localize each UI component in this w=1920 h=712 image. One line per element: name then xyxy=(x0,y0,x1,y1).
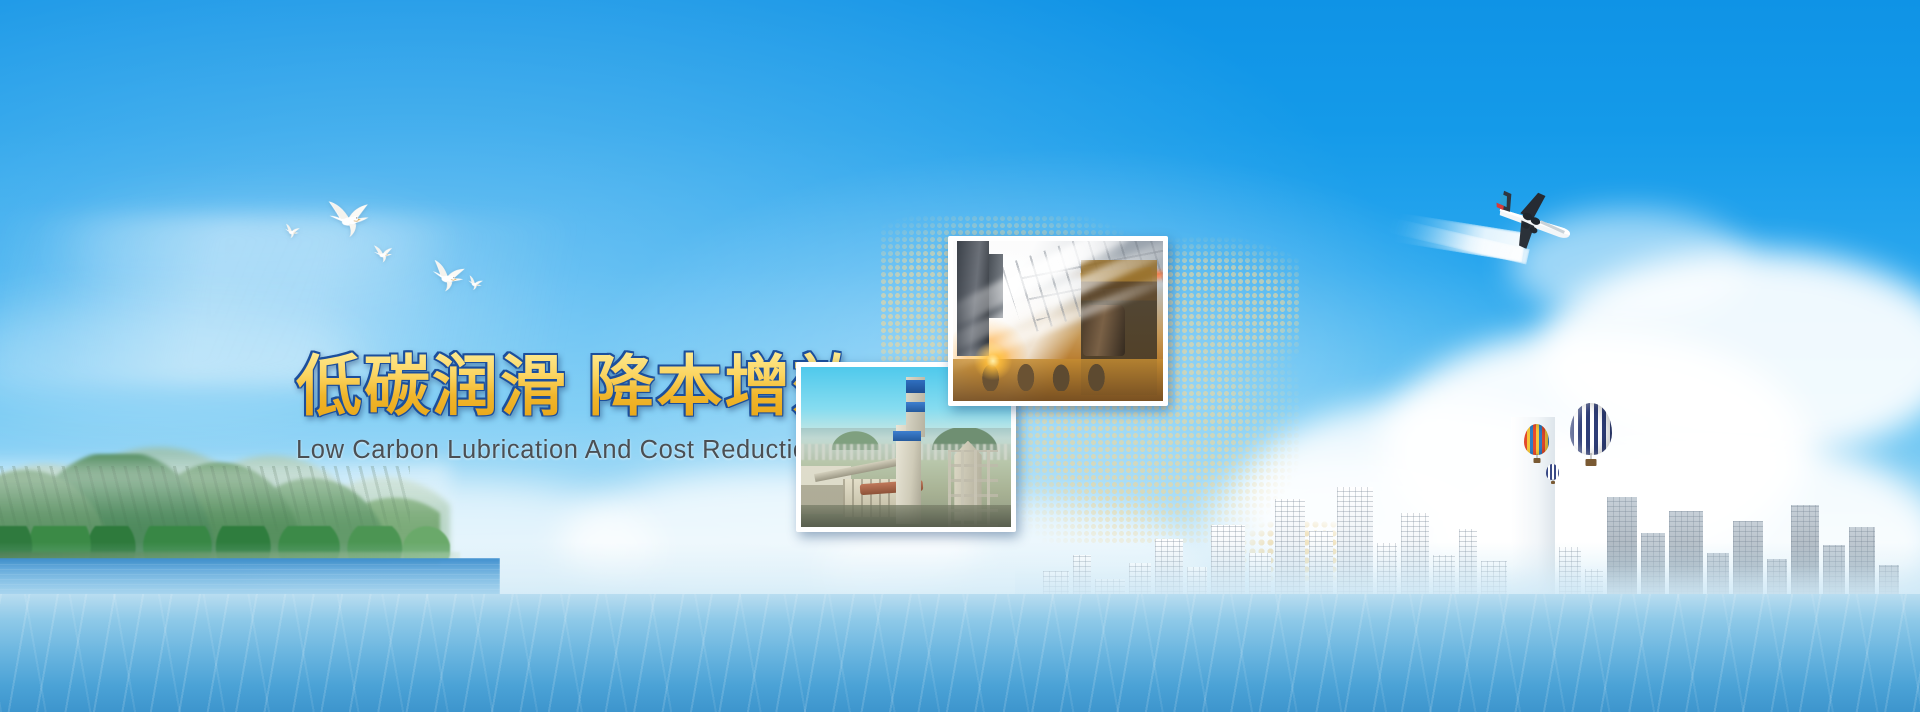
hot-air-balloon-tiny xyxy=(1546,464,1559,484)
dove-icon xyxy=(316,191,381,242)
dove-icon xyxy=(368,242,397,264)
airplane-icon xyxy=(1492,190,1578,259)
dove-icon xyxy=(280,222,304,240)
hot-air-balloon-large xyxy=(1570,403,1612,465)
hot-air-balloon-small xyxy=(1524,424,1549,462)
water-streaks xyxy=(0,594,1920,712)
photo-card-steel-mill[interactable] xyxy=(948,236,1168,406)
steel-mill-photo xyxy=(953,241,1163,401)
banner-hero: 低碳润滑 降本增效 Low Carbon Lubrication And Cos… xyxy=(0,0,1920,712)
